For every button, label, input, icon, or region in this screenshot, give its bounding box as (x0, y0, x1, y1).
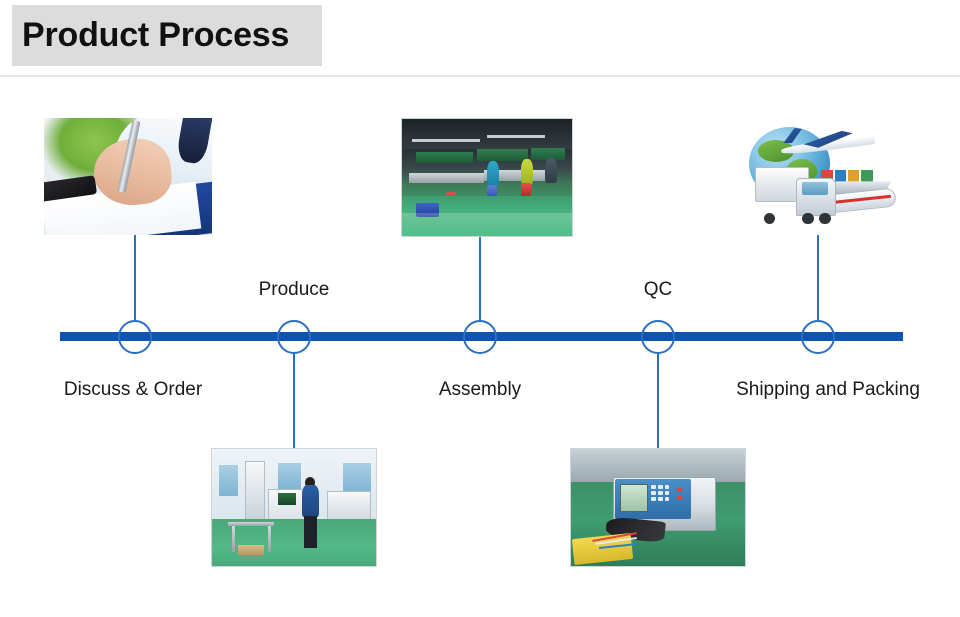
photo-qc-keypad-key (665, 491, 670, 495)
connector-discuss-order (134, 235, 136, 322)
process-timeline: Discuss & Order Produce Assembly QC Ship… (0, 0, 960, 617)
connector-produce (293, 352, 295, 448)
timeline-label-shipping-packing: Shipping and Packing (736, 379, 920, 401)
photo-qc-keypad-key (665, 497, 670, 501)
photo-produce (211, 448, 377, 567)
timeline-label-qc: QC (644, 279, 673, 301)
photo-assembly-worker (487, 161, 499, 187)
photo-discuss-order (44, 118, 212, 235)
photo-produce-machine-screen (278, 493, 296, 505)
timeline-node-discuss-order[interactable] (118, 320, 152, 354)
photo-qc-keypad-key (658, 491, 663, 495)
photo-produce-worker-legs (304, 516, 317, 549)
connector-shipping-packing (817, 235, 819, 322)
photo-qc-keypad-key (658, 497, 663, 501)
photo-assembly-light (412, 139, 480, 142)
photo-shipping-truck (755, 167, 839, 226)
photo-produce-window (219, 465, 239, 495)
timeline-label-assembly: Assembly (439, 379, 521, 401)
photo-produce-window (343, 463, 371, 493)
photo-produce-carton (238, 545, 264, 556)
photo-qc-keypad-key (651, 497, 656, 501)
photo-qc-keypad-key (677, 488, 682, 492)
photo-produce-table (232, 526, 235, 552)
timeline-node-produce[interactable] (277, 320, 311, 354)
photo-assembly-light (487, 135, 545, 138)
timeline-node-assembly[interactable] (463, 320, 497, 354)
photo-assembly-worker (521, 159, 533, 185)
photo-produce-window (278, 463, 301, 489)
photo-produce-floor (212, 519, 376, 566)
photo-produce-machine (245, 461, 265, 522)
photo-assembly-worker (545, 158, 557, 184)
photo-produce-table (268, 526, 271, 552)
photo-assembly-panel (477, 149, 528, 161)
timeline-node-qc[interactable] (641, 320, 675, 354)
photo-produce-worker-body (302, 485, 318, 517)
photo-assembly-panel (416, 152, 474, 164)
photo-assembly-ceiling (402, 119, 572, 149)
photo-assembly-floor-sheen (402, 213, 572, 236)
photo-qc-keypad-key (677, 496, 682, 500)
timeline-label-produce: Produce (259, 279, 330, 301)
photo-qc-keypad-key (651, 485, 656, 489)
photo-shipping-packing (739, 118, 901, 235)
photo-qc-keypad-key (658, 485, 663, 489)
connector-qc (657, 352, 659, 448)
timeline-node-shipping-packing[interactable] (801, 320, 835, 354)
photo-qc-keypad-key (651, 491, 656, 495)
photo-shipping-airplane (781, 127, 875, 162)
photo-qc (570, 448, 746, 567)
connector-assembly (479, 235, 481, 322)
photo-qc-tester-screen (620, 484, 648, 512)
timeline-label-discuss-order: Discuss & Order (64, 379, 202, 401)
photo-assembly-bench (409, 173, 484, 184)
photo-assembly (401, 118, 573, 237)
